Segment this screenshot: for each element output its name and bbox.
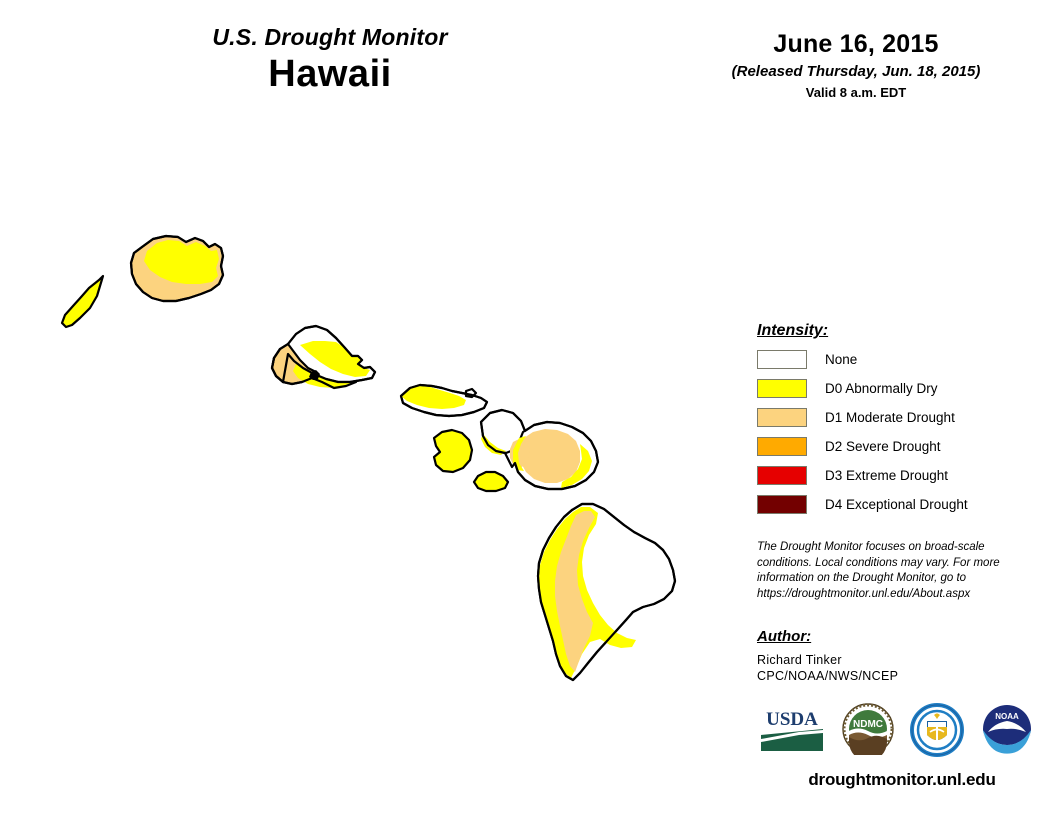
legend-label-d1: D1 Moderate Drought <box>825 410 955 425</box>
state-title: Hawaii <box>0 53 660 96</box>
site-url[interactable]: droughtmonitor.unl.edu <box>757 770 1047 790</box>
svg-text:NDMC: NDMC <box>853 719 883 730</box>
hawaii-drought-map <box>0 120 740 820</box>
island-molokai <box>401 385 487 416</box>
date-block: June 16, 2015 (Released Thursday, Jun. 1… <box>676 30 1036 100</box>
legend-swatch-d2 <box>757 437 807 456</box>
island-hawaii <box>538 504 675 680</box>
island-kahoolawe <box>474 472 508 491</box>
legend-label-d2: D2 Severe Drought <box>825 439 941 454</box>
title-block: U.S. Drought Monitor Hawaii <box>0 24 660 96</box>
disclaimer-line-2: conditions. Local conditions may vary. F… <box>757 556 1022 572</box>
island-kauai <box>131 236 223 301</box>
disclaimer-line-3: information on the Drought Monitor, go t… <box>757 571 1022 587</box>
noaa-logo[interactable]: NOAA <box>979 703 1035 755</box>
usda-logo[interactable]: USDA <box>759 703 825 753</box>
legend-title: Intensity: <box>757 322 1047 340</box>
legend-label-d3: D3 Extreme Drought <box>825 468 948 483</box>
disclaimer-link[interactable]: https://droughtmonitor.unl.edu/About.asp… <box>757 587 1022 603</box>
legend-item-d0: D0 Abnormally Dry <box>757 377 1047 400</box>
ndmc-logo[interactable]: NDMC <box>840 703 896 755</box>
legend-swatch-d4 <box>757 495 807 514</box>
legend-swatch-d3 <box>757 466 807 485</box>
disclaimer-text: The Drought Monitor focuses on broad-sca… <box>757 540 1022 602</box>
author-organization: CPC/NOAA/NWS/NCEP <box>757 669 1037 683</box>
niihau-d0-area <box>62 276 103 327</box>
legend-label-none: None <box>825 352 857 367</box>
intensity-legend: Intensity: None D0 Abnormally Dry D1 Mod… <box>757 322 1047 522</box>
author-name: Richard Tinker <box>757 653 1037 667</box>
released-date: (Released Thursday, Jun. 18, 2015) <box>676 63 1036 80</box>
lanai-d0-area <box>434 430 472 472</box>
author-block: Author: Richard Tinker CPC/NOAA/NWS/NCEP <box>757 628 1037 683</box>
disclaimer-line-1: The Drought Monitor focuses on broad-sca… <box>757 540 1022 556</box>
legend-item-d1: D1 Moderate Drought <box>757 406 1047 429</box>
page-title: U.S. Drought Monitor <box>0 24 660 51</box>
legend-swatch-d1 <box>757 408 807 427</box>
legend-label-d0: D0 Abnormally Dry <box>825 381 938 396</box>
agency-logos: USDA NDMC <box>757 703 1047 761</box>
legend-label-d4: D4 Exceptional Drought <box>825 497 968 512</box>
valid-time: Valid 8 a.m. EDT <box>676 85 1036 100</box>
legend-swatch-none <box>757 350 807 369</box>
island-niihau <box>62 276 103 327</box>
valid-date: June 16, 2015 <box>676 30 1036 59</box>
legend-item-d3: D3 Extreme Drought <box>757 464 1047 487</box>
legend-swatch-d0 <box>757 379 807 398</box>
unl-seal-logo[interactable] <box>909 703 965 757</box>
kahoolawe-d0-area <box>474 472 508 491</box>
svg-text:USDA: USDA <box>766 709 818 730</box>
legend-item-d4: D4 Exceptional Drought <box>757 493 1047 516</box>
legend-item-none: None <box>757 348 1047 371</box>
author-title: Author: <box>757 628 1037 645</box>
legend-item-d2: D2 Severe Drought <box>757 435 1047 458</box>
svg-text:NOAA: NOAA <box>995 712 1019 721</box>
island-lanai <box>434 430 472 472</box>
island-oahu <box>272 326 375 388</box>
